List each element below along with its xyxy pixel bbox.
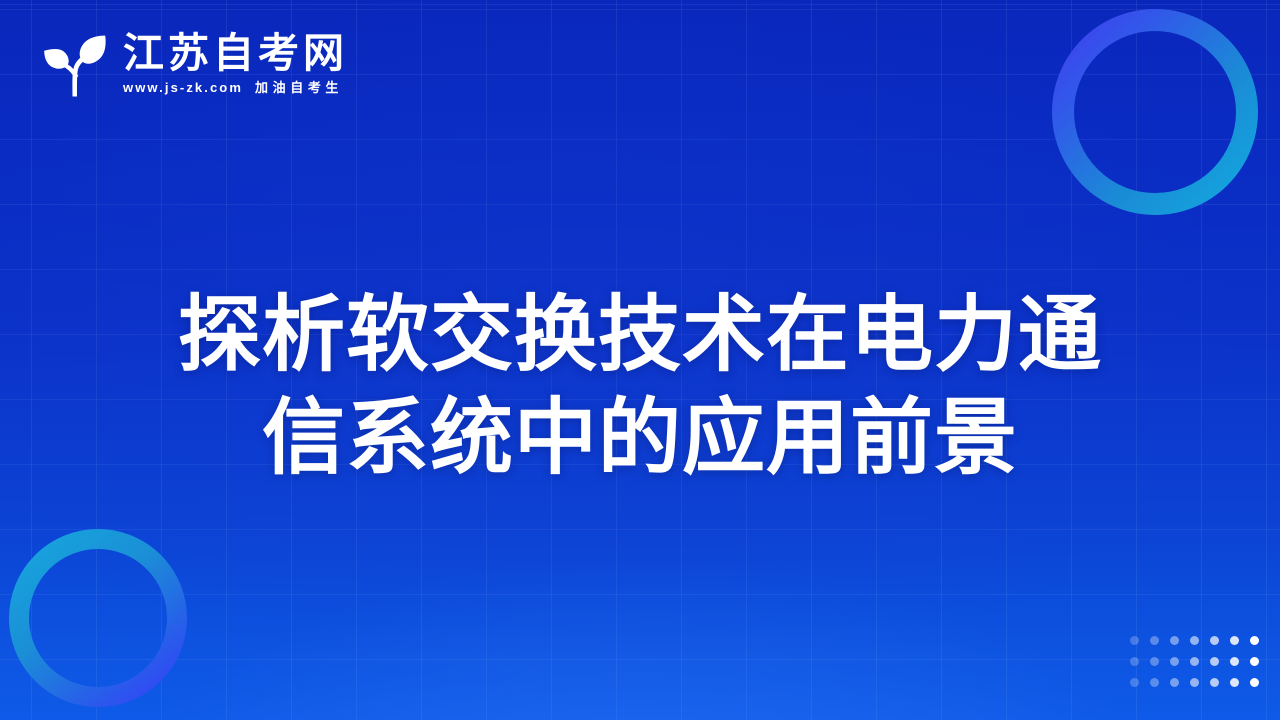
matrix-dot: [1250, 678, 1259, 687]
matrix-dot: [1130, 657, 1139, 666]
matrix-dot: [1230, 678, 1239, 687]
matrix-dot: [1170, 657, 1179, 666]
logo-slogan-text: 加油自考生: [255, 77, 343, 96]
logo-url-text: www.js-zk.com: [123, 80, 243, 95]
matrix-dot: [1170, 678, 1179, 687]
matrix-dot: [1130, 636, 1139, 645]
decorative-ring-top-right: [1052, 9, 1258, 215]
matrix-dot: [1230, 657, 1239, 666]
matrix-dot: [1190, 678, 1199, 687]
matrix-dot: [1150, 678, 1159, 687]
logo-wordmark: 江苏自考网: [123, 32, 348, 75]
matrix-dot: [1190, 657, 1199, 666]
matrix-dot: [1210, 636, 1219, 645]
matrix-dot: [1230, 636, 1239, 645]
matrix-dot: [1210, 657, 1219, 666]
decorative-dot-matrix: [1130, 636, 1262, 694]
matrix-dot: [1190, 636, 1199, 645]
matrix-dot: [1150, 636, 1159, 645]
decorative-ring-bottom-left: [8, 528, 188, 708]
logo-tagline: www.js-zk.com 加油自考生: [123, 77, 348, 96]
sprout-icon: [36, 26, 110, 100]
page-title-line-2: 信系统中的应用前景: [40, 386, 1240, 489]
logo-text-group: 江苏自考网 www.js-zk.com 加油自考生: [123, 30, 348, 97]
page-title: 探析软交换技术在电力通 信系统中的应用前景: [0, 283, 1280, 489]
matrix-dot: [1130, 678, 1139, 687]
poster-canvas: 江苏自考网 www.js-zk.com 加油自考生 探析软交换技术在电力通 信系…: [0, 0, 1280, 720]
matrix-dot: [1150, 657, 1159, 666]
matrix-dot: [1250, 657, 1259, 666]
page-title-line-1: 探析软交换技术在电力通: [40, 283, 1240, 386]
matrix-dot: [1210, 678, 1219, 687]
site-logo[interactable]: 江苏自考网 www.js-zk.com 加油自考生: [36, 26, 348, 100]
matrix-dot: [1170, 636, 1179, 645]
matrix-dot: [1250, 636, 1259, 645]
